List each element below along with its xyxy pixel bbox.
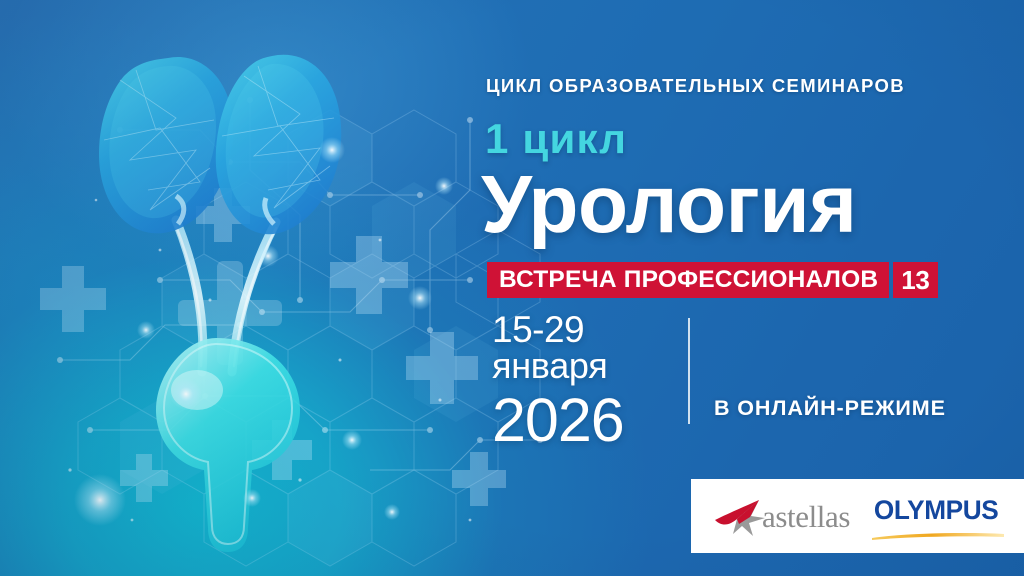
vertical-divider (688, 318, 690, 424)
promo-banner: ЦИКЛ ОБРАЗОВАТЕЛЬНЫХ СЕМИНАРОВ 1 цикл Ур… (0, 0, 1024, 576)
event-date: 15-29 января 2026 (492, 312, 682, 451)
banner-content: ЦИКЛ ОБРАЗОВАТЕЛЬНЫХ СЕМИНАРОВ 1 цикл Ур… (0, 0, 1024, 576)
event-badge-number-block: 13 (893, 262, 937, 298)
sponsor-logo-strip: astellas OLYMPUS (691, 479, 1024, 553)
event-badge-text-block: ВСТРЕЧА ПРОФЕССИОНАЛОВ (487, 262, 889, 298)
page-title: Урология (481, 164, 857, 246)
astellas-logo: astellas (713, 496, 850, 536)
event-mode: В ОНЛАЙН-РЕЖИМЕ (714, 396, 946, 421)
date-month: января (492, 347, 682, 386)
cycle-label: 1 цикл (485, 118, 627, 160)
event-badge: ВСТРЕЧА ПРОФЕССИОНАЛОВ 13 (487, 262, 938, 298)
astellas-star-icon (713, 496, 769, 536)
olympus-underline-icon (872, 527, 1004, 535)
date-range: 15-29 (492, 312, 682, 347)
astellas-wordmark: astellas (762, 501, 850, 532)
event-badge-number: 13 (901, 267, 929, 293)
banner-kicker: ЦИКЛ ОБРАЗОВАТЕЛЬНЫХ СЕМИНАРОВ (486, 75, 905, 97)
event-badge-text: ВСТРЕЧА ПРОФЕССИОНАЛОВ (499, 268, 878, 293)
date-year: 2026 (492, 390, 682, 451)
olympus-wordmark: OLYMPUS (874, 497, 998, 524)
olympus-logo: OLYMPUS (872, 497, 1004, 535)
